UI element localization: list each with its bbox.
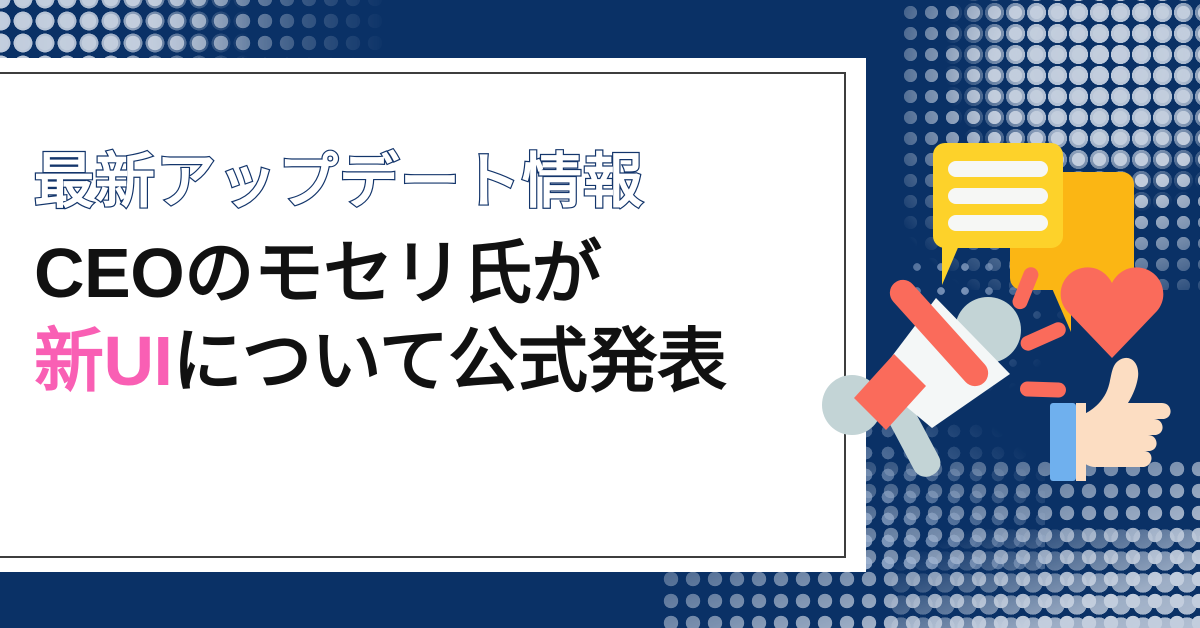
headline-line-2-text: について公式発表	[173, 322, 727, 400]
headline-line-2: 新UIについて公式発表	[34, 317, 834, 405]
speech-bubble-text-line-icon	[948, 161, 1048, 177]
banner-canvas: 最新アップデート情報 CEOのモセリ氏が 新UIについて公式発表	[0, 0, 1200, 628]
headline-line-1: CEOのモセリ氏が	[34, 229, 834, 317]
headline-line-1-text: CEOのモセリ氏が	[34, 234, 601, 312]
halftone-dots-top-left	[0, 0, 390, 66]
headline-accent-text: 新UI	[34, 322, 173, 400]
megaphone-icon	[840, 270, 1060, 500]
thumbs-up-icon	[1048, 355, 1188, 495]
speech-bubble-text-line-icon	[948, 215, 1048, 231]
halftone-dots-top-left-dense	[0, 0, 250, 66]
kicker-text: 最新アップデート情報	[34, 150, 834, 215]
heart-icon	[1060, 263, 1164, 359]
speech-bubble-text-line-icon	[948, 188, 1048, 204]
headline-block: 最新アップデート情報 CEOのモセリ氏が 新UIについて公式発表	[34, 150, 834, 405]
